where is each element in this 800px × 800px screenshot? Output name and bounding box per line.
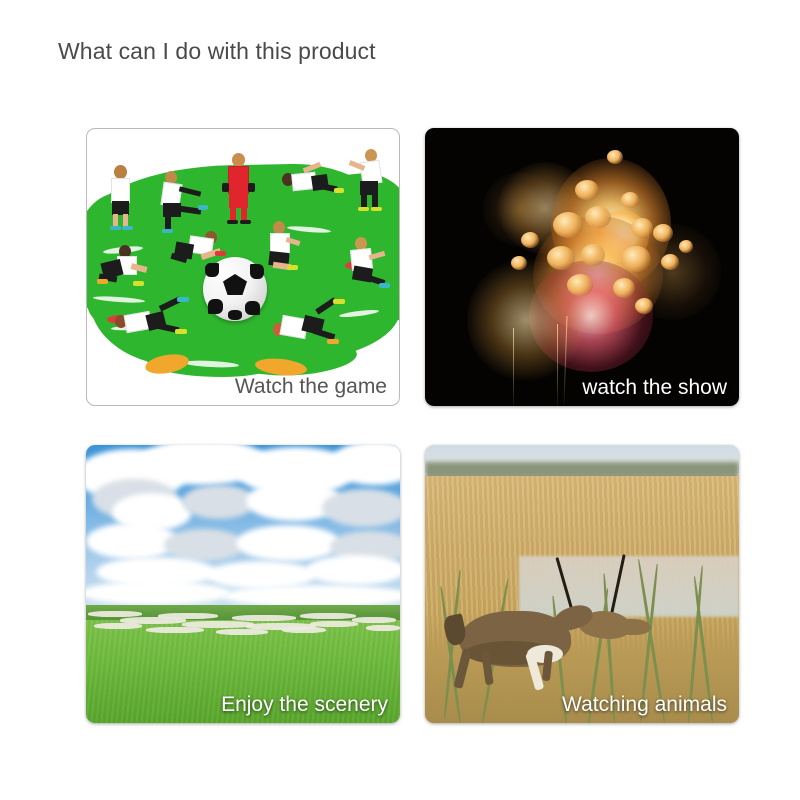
player-shoe (133, 281, 144, 286)
firework-puff (553, 212, 583, 238)
player-arm (179, 186, 202, 196)
sheep-flock (216, 629, 268, 635)
soccer-player (259, 221, 305, 277)
card-watch-the-game[interactable]: Watch the game (86, 128, 400, 406)
antelope-leg (542, 651, 553, 682)
soccer-ball (203, 257, 267, 321)
player-jersey (111, 178, 130, 203)
sheep-flock (310, 621, 358, 627)
firework-puff (607, 150, 623, 164)
cloud (236, 525, 340, 561)
sheep-flock (88, 611, 142, 617)
sheep-flock (366, 625, 400, 631)
player-shoe (198, 205, 208, 210)
player-shoe (334, 188, 344, 193)
firework-puff (581, 244, 605, 266)
cloud (164, 529, 244, 561)
goalkeeper-jersey (228, 166, 249, 194)
card-enjoy-the-scenery[interactable]: Enjoy the scenery (86, 445, 400, 723)
antelope (441, 553, 657, 693)
sheep-flock (300, 613, 356, 619)
feature-card-grid: Watch the game (86, 128, 723, 723)
sheep-flock (282, 627, 326, 633)
card-watch-the-show[interactable]: watch the show (425, 128, 739, 406)
ball-panel (208, 299, 223, 314)
firework-puff (635, 298, 653, 314)
card-caption: Watch the game (235, 375, 387, 399)
player-shoe (227, 220, 238, 224)
soccer-player (113, 297, 193, 353)
firework-puff (621, 246, 651, 272)
player-shoe (177, 297, 189, 302)
player-shorts (112, 201, 129, 215)
page-title: What can I do with this product (58, 38, 376, 65)
firework-puff (511, 256, 527, 270)
player-shoe (122, 226, 133, 230)
firework-puff (575, 180, 599, 200)
card-caption: watch the show (582, 376, 727, 400)
cloud (86, 581, 230, 605)
player-shoe (358, 207, 369, 211)
player-shoe (240, 220, 251, 224)
firework-puff (613, 278, 635, 298)
cloud (306, 555, 400, 585)
soccer-player (97, 245, 151, 295)
antelope-horn (609, 554, 626, 619)
goalkeeper (221, 153, 255, 225)
firework-puff (679, 240, 693, 253)
card-watching-animals[interactable]: Watching animals (425, 445, 739, 723)
ball-panel (250, 264, 264, 279)
player-leg (361, 193, 367, 208)
firework-puff (631, 218, 653, 238)
player-shoe (327, 339, 339, 344)
soccer-player (281, 165, 337, 205)
firework-trail (557, 324, 558, 406)
soccer-player (265, 303, 349, 361)
card-caption: Enjoy the scenery (221, 693, 388, 717)
firework-puff (585, 206, 611, 228)
player-shoe (379, 283, 390, 288)
firework-trail (513, 328, 514, 406)
soccer-scene (87, 129, 399, 405)
player-head (114, 165, 127, 179)
firework-burst (483, 172, 557, 246)
soccer-player (105, 165, 135, 231)
soccer-player (341, 237, 389, 289)
cloud (182, 485, 256, 519)
player-shoe (371, 207, 382, 211)
player-leg (241, 207, 247, 221)
sheep-flock (352, 617, 396, 623)
soccer-player (155, 171, 207, 233)
firework-puff (621, 192, 639, 208)
goalkeeper-glove (222, 183, 229, 192)
firework-puff (547, 246, 575, 270)
grassland-scene (86, 445, 400, 723)
firework-puff (653, 224, 673, 242)
player-leg (230, 207, 236, 221)
card-caption: Watching animals (562, 693, 727, 717)
player-shoe (97, 279, 108, 284)
goalkeeper-glove (248, 183, 255, 192)
player-shoe (110, 226, 121, 230)
goalkeeper-shorts (229, 192, 248, 208)
player-shoe (175, 329, 187, 334)
player-head (232, 153, 245, 167)
antelope-muzzle (617, 619, 651, 635)
fireworks-scene (425, 128, 739, 406)
savanna-scene (425, 445, 739, 723)
ball-panel (205, 263, 219, 277)
cloud (322, 489, 400, 527)
player-shoe (215, 251, 226, 256)
ball-panel (228, 310, 242, 320)
player-shoe (333, 299, 345, 304)
firework-puff (567, 274, 593, 296)
player-leg (372, 193, 378, 208)
ball-panel (223, 274, 247, 295)
cloud (222, 585, 400, 607)
sheep-flock (146, 627, 204, 633)
ball-panel (245, 301, 260, 315)
player-shoe (287, 265, 298, 270)
soccer-player (349, 149, 389, 211)
firework-puff (521, 232, 539, 248)
sheep-flock (94, 623, 142, 629)
sheep-flock (232, 615, 296, 621)
antelope-leg (453, 648, 471, 689)
sheep-flock (158, 613, 218, 619)
firework-puff (661, 254, 679, 270)
